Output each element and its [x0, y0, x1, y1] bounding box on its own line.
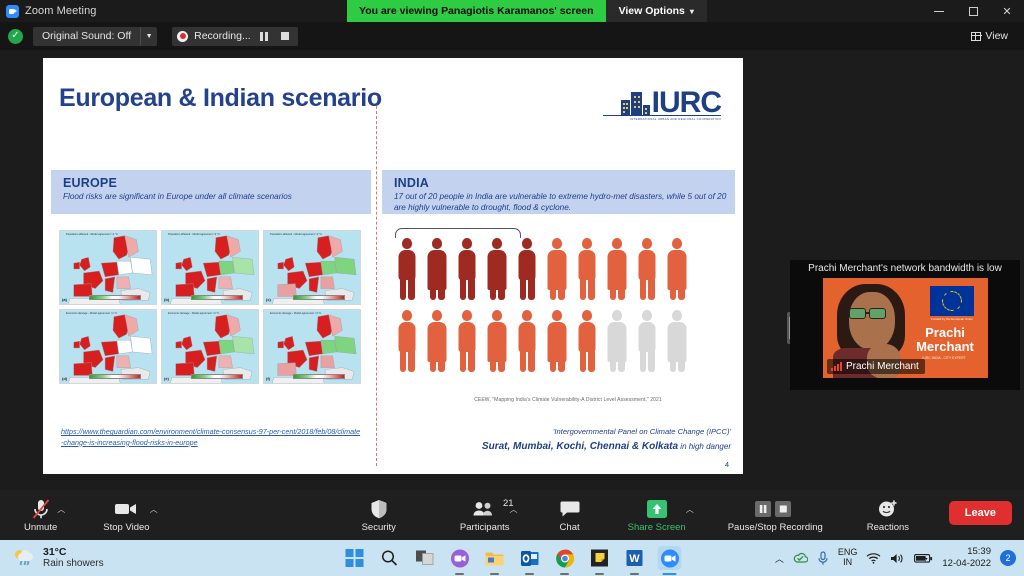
eu-flag-icon [930, 286, 974, 316]
view-options-button[interactable]: View Options ▾ [606, 0, 707, 22]
record-dot-icon [177, 31, 188, 42]
pictogram-row-1 [395, 238, 731, 300]
chat-button[interactable]: Chat [554, 490, 586, 540]
zoom-meeting-taskbar-icon[interactable] [658, 546, 682, 570]
europe-header-band: EUROPE Flood risks are significant in Eu… [51, 170, 371, 214]
map-letter: (c) [266, 297, 271, 302]
search-icon[interactable] [378, 546, 402, 570]
reactions-button[interactable]: Reactions [861, 490, 915, 540]
wifi-icon[interactable] [866, 552, 881, 564]
europe-map-shape [60, 310, 157, 384]
map-legend [89, 295, 141, 300]
pictogram-person [485, 238, 509, 300]
iurc-buildings-icon [621, 92, 650, 116]
cities-tail: in high danger [678, 442, 731, 451]
pictogram-person [395, 238, 419, 300]
pictogram-person [515, 238, 539, 300]
highly-vulnerable-bracket [395, 228, 521, 238]
share-screen-label: Share Screen [628, 522, 686, 533]
map-letter: (a) [62, 297, 67, 302]
europe-map-thumbnail: Economic damage - Model agreement >1 °C(… [59, 309, 157, 384]
recording-label: Recording... [194, 30, 251, 42]
original-sound-label: Original Sound: Off [33, 30, 140, 42]
unmute-button[interactable]: Unmute ︿ [18, 490, 63, 540]
file-explorer-icon[interactable] [483, 546, 507, 570]
weather-temperature: 31°C [43, 546, 104, 558]
pictogram-person [575, 238, 599, 300]
rain-showers-icon [14, 549, 36, 567]
minimize-button[interactable] [922, 0, 956, 22]
pictogram-person [545, 238, 569, 300]
europe-map-shape [162, 310, 259, 384]
taskbar-weather-widget[interactable]: 31°C Rain showers [0, 546, 104, 570]
video-camera-icon [114, 497, 138, 521]
participant-video-tile[interactable]: Funded by the European Union Prachi Merc… [823, 278, 988, 378]
europe-map-shape [264, 310, 361, 384]
network-bars-icon [831, 362, 842, 371]
chrome-icon[interactable] [553, 546, 577, 570]
meeting-sub-toolbar: ✓ Original Sound: Off ▼ Recording... Vie… [0, 22, 1024, 50]
pictogram-person [395, 310, 419, 372]
iurc-logo-subtitle: INTERNATIONAL URBAN AND REGIONAL COOPERA… [630, 117, 721, 121]
pictogram-person [515, 310, 539, 372]
system-tray: ︿ ENG IN [775, 546, 1016, 570]
slide-number: 4 [725, 460, 729, 469]
europe-map-thumbnail: Economic damage - Model agreement >3 °C(… [263, 309, 361, 384]
unmute-label: Unmute [24, 522, 57, 533]
view-options-label: View Options [619, 5, 685, 17]
bandwidth-warning: Prachi Merchant's network bandwidth is l… [790, 260, 1020, 277]
pictogram-person [575, 310, 599, 372]
share-options-caret[interactable]: ︿ [686, 504, 694, 515]
volume-icon[interactable] [890, 552, 905, 565]
cities-list: Surat, Mumbai, Kochi, Chennai & Kolkata [482, 441, 678, 452]
pictogram-person [635, 238, 659, 300]
audio-ok-icon: ✓ [8, 29, 23, 44]
map-letter: (d) [62, 376, 67, 381]
pictogram-person [425, 310, 449, 372]
india-heading: INDIA [394, 176, 429, 190]
task-view-icon[interactable] [413, 546, 437, 570]
slide-center-divider [376, 106, 377, 466]
europe-map-thumbnail: Population affected - Model agreement >2… [161, 230, 259, 305]
stop-video-button[interactable]: Stop Video ︿ [97, 490, 155, 540]
security-button[interactable]: Security [356, 490, 402, 540]
pictogram-person [485, 310, 509, 372]
window-title: Zoom Meeting [25, 5, 97, 17]
taskbar-clock[interactable]: 15:39 12-04-2022 [942, 546, 991, 570]
shared-screen-stage: European & Indian scenario IURC INTERNAT… [0, 50, 1024, 490]
screen-share-indicator: You are viewing Panagiotis Karamanos' sc… [347, 0, 707, 22]
smiley-plus-icon [877, 497, 899, 521]
pictogram-row-2 [395, 310, 731, 372]
slide-content: European & Indian scenario IURC INTERNAT… [43, 72, 743, 468]
india-subheading: 17 out of 20 people in India are vulnera… [394, 191, 727, 213]
show-hidden-icons-icon[interactable]: ︿ [775, 552, 784, 565]
europe-maps-grid: Population affected - Model agreement >1… [59, 230, 361, 384]
participants-button[interactable]: 21 Participants ︿ [454, 490, 516, 540]
iurc-logo: IURC [621, 90, 721, 116]
map-legend [191, 374, 243, 379]
pictogram-person [545, 310, 569, 372]
map-letter: (f) [266, 376, 270, 381]
stop-video-label: Stop Video [103, 522, 149, 533]
grid-view-icon [971, 32, 981, 41]
pause-recording-button[interactable] [257, 29, 272, 44]
sticky-notes-icon[interactable] [588, 546, 612, 570]
presentation-slide: European & Indian scenario IURC INTERNAT… [43, 58, 743, 474]
app-identity: Zoom Meeting [0, 5, 97, 18]
eyeglasses-icon [849, 308, 866, 319]
europe-map-shape [264, 231, 361, 305]
map-letter: (e) [164, 376, 169, 381]
language-indicator[interactable]: ENG IN [838, 548, 858, 568]
pictogram-person [635, 310, 659, 372]
windows-taskbar: 31°C Rain showers [0, 540, 1024, 576]
window-title-bar: Zoom Meeting You are viewing Panagiotis … [0, 0, 1024, 22]
europe-subheading: Flood risks are significant in Europe un… [63, 191, 363, 202]
weather-description: Rain showers [43, 558, 104, 570]
security-label: Security [362, 522, 396, 533]
audio-options-caret[interactable]: ︿ [57, 504, 65, 515]
battery-charging-icon[interactable] [914, 553, 933, 564]
virtual-background-name: Prachi Merchant [910, 326, 980, 355]
view-layout-button[interactable]: View [965, 27, 1014, 45]
map-legend [293, 374, 345, 379]
view-label: View [985, 30, 1008, 42]
pictogram-person [425, 238, 449, 300]
shield-icon [370, 497, 388, 521]
share-screen-icon [646, 497, 668, 521]
europe-heading: EUROPE [63, 176, 117, 190]
map-legend [89, 374, 141, 379]
iurc-logo-rule [603, 115, 721, 116]
participant-name-tag: Prachi Merchant [827, 359, 925, 374]
notification-badge[interactable]: 2 [1000, 550, 1016, 566]
microphone-icon[interactable] [817, 551, 829, 566]
ceew-citation: CEEW, "Mapping India's Climate Vulnerabi… [403, 397, 733, 403]
video-options-caret[interactable]: ︿ [150, 504, 158, 515]
zoom-app-icon[interactable] [448, 546, 472, 570]
india-pictogram [391, 228, 731, 372]
map-letter: (b) [164, 297, 169, 302]
maximize-button[interactable] [956, 0, 990, 22]
india-header-band: INDIA 17 out of 20 people in India are v… [382, 170, 735, 214]
eu-flag-caption: Funded by the European Union [926, 318, 978, 322]
chevron-down-icon[interactable]: ▼ [140, 27, 157, 46]
window-controls: ✕ [922, 0, 1024, 22]
zoom-meeting-window: Zoom Meeting You are viewing Panagiotis … [0, 0, 1024, 576]
pictogram-person [455, 238, 479, 300]
reactions-label: Reactions [867, 522, 909, 533]
close-button[interactable]: ✕ [990, 0, 1024, 22]
pause-stop-recording-button[interactable]: Pause/Stop Recording [722, 490, 829, 540]
onedrive-icon[interactable] [793, 552, 808, 564]
pictogram-person [665, 238, 689, 300]
pause-stop-recording-label: Pause/Stop Recording [728, 522, 823, 533]
pause-stop-icon [755, 497, 795, 521]
stop-recording-button[interactable] [278, 29, 293, 44]
europe-map-thumbnail: Population affected - Model agreement >1… [59, 230, 157, 305]
europe-map-thumbnail: Economic damage - Model agreement >2 °C(… [161, 309, 259, 384]
cities-at-risk: Surat, Mumbai, Kochi, Chennai & Kolkata … [391, 440, 731, 453]
word-icon[interactable]: W [623, 546, 647, 570]
outlook-icon[interactable] [518, 546, 542, 570]
europe-map-shape [162, 231, 259, 305]
chat-label: Chat [560, 522, 580, 533]
europe-map-thumbnail: Population affected - Model agreement >3… [263, 230, 361, 305]
start-button[interactable] [343, 546, 367, 570]
guardian-source-link[interactable]: https://www.theguardian.com/environment/… [61, 427, 361, 449]
microphone-muted-icon [31, 497, 51, 521]
share-screen-button[interactable]: Share Screen ︿ [622, 490, 692, 540]
pictogram-person [605, 310, 629, 372]
taskbar-app-icons: W [343, 546, 682, 570]
slide-title: European & Indian scenario [59, 84, 382, 113]
people-icon [472, 497, 498, 521]
meeting-control-bar: Unmute ︿ Stop Video ︿ Security [0, 490, 1024, 540]
participants-options-caret[interactable]: ︿ [510, 504, 518, 515]
chevron-down-icon: ▾ [690, 7, 694, 16]
europe-map-shape [60, 231, 157, 305]
iurc-logo-text: IURC [652, 90, 721, 116]
participants-label: Participants [460, 522, 510, 533]
participant-name: Prachi Merchant [846, 361, 919, 372]
pictogram-person [605, 238, 629, 300]
pictogram-person [665, 310, 689, 372]
leave-button[interactable]: Leave [949, 501, 1012, 525]
ipcc-attribution: 'Intergovernmental Panel on Climate Chan… [401, 427, 731, 438]
viewing-banner-label: You are viewing Panagiotis Karamanos' sc… [347, 0, 606, 22]
zoom-logo-icon [6, 5, 19, 18]
original-sound-toggle[interactable]: Original Sound: Off ▼ [33, 27, 157, 46]
recording-indicator: Recording... [172, 27, 298, 46]
participant-video-panel[interactable]: Prachi Merchant's network bandwidth is l… [790, 260, 1020, 390]
map-legend [191, 295, 243, 300]
pictogram-person [455, 310, 479, 372]
chat-bubble-icon [560, 497, 580, 521]
svg-text:W: W [629, 553, 640, 565]
map-legend [293, 295, 345, 300]
